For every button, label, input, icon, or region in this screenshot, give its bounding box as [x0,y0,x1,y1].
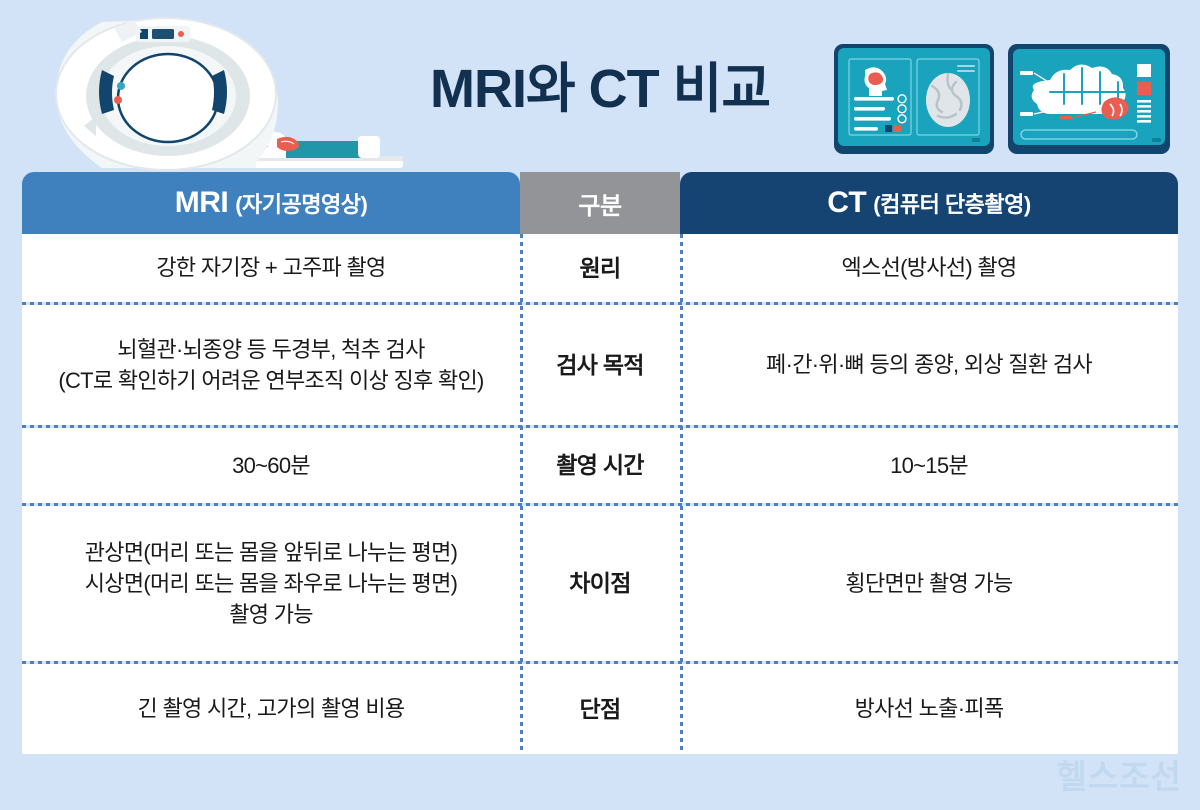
cell-mri: 뇌혈관·뇌종양 등 두경부, 척추 검사(CT로 확인하기 어려운 연부조직 이… [22,305,520,425]
table-row: 강한 자기장 + 고주파 촬영 원리 엑스선(방사선) 촬영 [22,234,1178,302]
table-body: 강한 자기장 + 고주파 촬영 원리 엑스선(방사선) 촬영 뇌혈관·뇌종양 등… [22,234,1178,754]
header-cell-mri: MRI (자기공명영상) [22,172,520,234]
cell-ct: 폐·간·위·뼈 등의 종양, 외상 질환 검사 [680,305,1178,425]
header-ct-title: CT [827,186,866,220]
table-row: 뇌혈관·뇌종양 등 두경부, 척추 검사(CT로 확인하기 어려운 연부조직 이… [22,305,1178,425]
cell-ct: 엑스선(방사선) 촬영 [680,234,1178,302]
header-cell-category: 구분 [520,172,680,234]
cell-ct: 횡단면만 촬영 가능 [680,506,1178,661]
cell-mri: 강한 자기장 + 고주파 촬영 [22,234,520,302]
table-row: 30~60분 촬영 시간 10~15분 [22,428,1178,503]
monitor-right [1008,44,1170,154]
cell-category: 원리 [520,234,680,302]
cell-category: 검사 목적 [520,305,680,425]
cell-ct: 방사선 노출·피폭 [680,664,1178,754]
table-row: 긴 촬영 시간, 고가의 촬영 비용 단점 방사선 노출·피폭 [22,664,1178,754]
header-cell-ct: CT (컴퓨터 단층촬영) [680,172,1178,234]
column-separator-left [520,234,523,754]
cell-mri: 30~60분 [22,428,520,503]
header-mri-subtitle: (자기공명영상) [235,187,367,219]
cell-category: 차이점 [520,506,680,661]
header-mri-title: MRI [175,186,229,220]
cell-mri: 긴 촬영 시간, 고가의 촬영 비용 [22,664,520,754]
monitor-left [834,44,994,154]
header-ct-subtitle: (컴퓨터 단층촬영) [873,187,1030,219]
header-category-title: 구분 [578,186,621,221]
cell-category: 촬영 시간 [520,428,680,503]
comparison-table: MRI (자기공명영상) 구분 CT (컴퓨터 단층촬영) [22,172,1178,742]
table-row: 관상면(머리 또는 몸을 앞뒤로 나누는 평면)시상면(머리 또는 몸을 좌우로… [22,506,1178,661]
cell-category: 단점 [520,664,680,754]
cell-mri: 관상면(머리 또는 몸을 앞뒤로 나누는 평면)시상면(머리 또는 몸을 좌우로… [22,506,520,661]
column-separator-right [680,234,683,754]
brand-logo: 헬스조선 [1057,750,1182,798]
cell-ct: 10~15분 [680,428,1178,503]
infographic-root: MRI와 CT 비교 [0,0,1200,810]
medical-monitors-illustration [832,42,1172,160]
table-header-row: MRI (자기공명영상) 구분 CT (컴퓨터 단층촬영) [22,172,1178,234]
